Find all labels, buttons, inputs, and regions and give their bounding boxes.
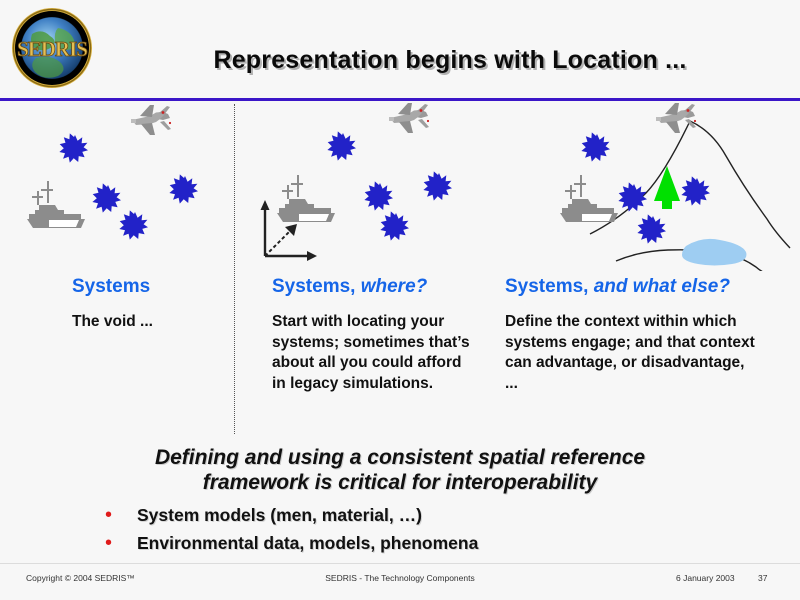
warship-icon [277, 175, 335, 222]
footer-divider [0, 563, 800, 564]
column3-graphics [560, 103, 790, 271]
column-3-heading: Systems, and what else? [505, 276, 755, 298]
column-3-body: Define the context within which systems … [505, 312, 755, 394]
bullet-text: Environmental data, models, phenomena [137, 533, 478, 554]
svg-text:SEDRIS: SEDRIS [17, 37, 87, 61]
column-1-body: The void ... [72, 312, 222, 333]
blue-burst-icon [681, 176, 710, 205]
blue-burst-icon [618, 182, 647, 211]
blue-burst-icon [119, 210, 148, 239]
blue-burst-icon [327, 131, 356, 160]
column-1-heading: Systems [72, 276, 222, 298]
green-tree-icon [654, 166, 680, 209]
blue-burst-icon [169, 174, 198, 203]
footer-date: 6 January 2003 [676, 573, 735, 583]
column-3-heading-main: Systems, [505, 276, 588, 297]
fighter-jet-icon [656, 103, 696, 133]
blue-burst-icon [581, 132, 610, 161]
blue-burst-icon [364, 181, 393, 210]
bullet-marker-icon: • [105, 533, 137, 553]
summary-line-2: framework is critical for interoperabili… [40, 471, 760, 496]
footer-page-number: 37 [758, 573, 767, 583]
column-2-heading-italic: where? [361, 276, 428, 297]
column1-graphics [27, 105, 198, 240]
fighter-jet-icon [131, 105, 171, 135]
summary-statement: Defining and using a consistent spatial … [40, 446, 760, 496]
column-divider [234, 104, 235, 434]
bullet-text: System models (men, material, …) [137, 505, 422, 526]
bullet-marker-icon: • [105, 505, 137, 525]
column-1: Systems The void ... [72, 276, 222, 333]
summary-line-1: Defining and using a consistent spatial … [40, 446, 760, 471]
bullet-list: • System models (men, material, …) • Env… [105, 505, 725, 561]
column2-graphics [261, 103, 453, 261]
column-2-heading: Systems, where? [272, 276, 472, 298]
blue-burst-icon [59, 133, 88, 162]
illustration-svg [0, 101, 800, 271]
slide-canvas: SEDRIS Representation begins with Locati… [0, 0, 800, 600]
fighter-jet-icon [389, 103, 429, 133]
warship-icon [27, 181, 85, 228]
column-2: Systems, where? Start with locating your… [272, 276, 472, 394]
water-body-icon [682, 239, 746, 266]
column-1-heading-main: Systems [72, 276, 150, 297]
list-item: • System models (men, material, …) [105, 505, 725, 526]
blue-burst-icon [92, 183, 121, 212]
page-title: Representation begins with Location ... [120, 46, 780, 75]
column-3-heading-italic: and what else? [594, 276, 730, 297]
column-2-body: Start with locating your systems; someti… [272, 312, 472, 394]
column-2-heading-main: Systems, [272, 276, 355, 297]
blue-burst-icon [637, 214, 666, 243]
sedris-globe-logo: SEDRIS [6, 6, 98, 90]
list-item: • Environmental data, models, phenomena [105, 533, 725, 554]
warship-icon [560, 175, 618, 222]
blue-burst-icon [423, 171, 452, 200]
column-3: Systems, and what else? Define the conte… [505, 276, 755, 394]
illustration-band [0, 101, 800, 271]
blue-burst-icon [380, 211, 409, 240]
